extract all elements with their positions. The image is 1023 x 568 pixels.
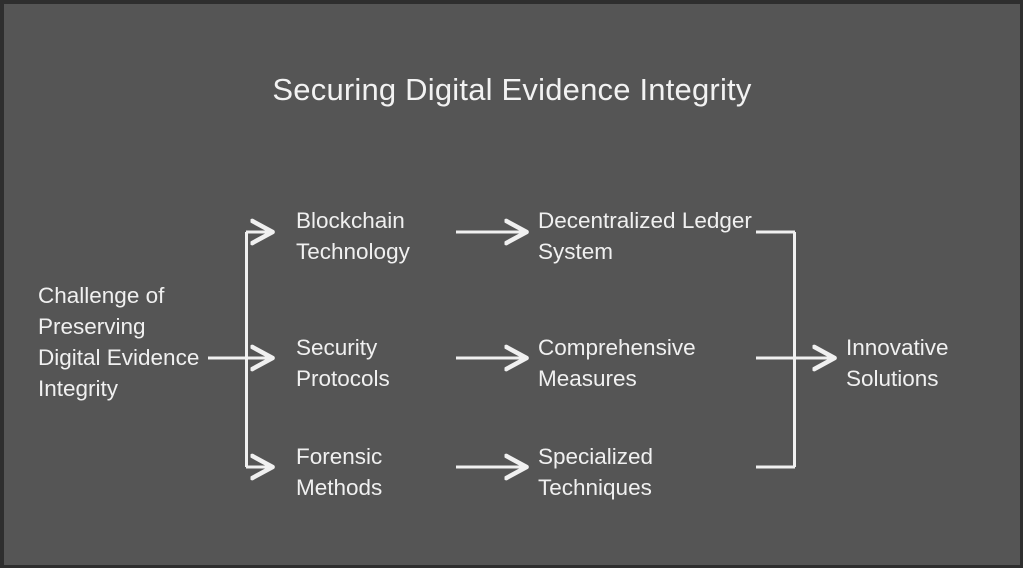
page-title: Securing Digital Evidence Integrity xyxy=(4,72,1020,108)
node-security-protocols: Security Protocols xyxy=(296,332,471,394)
node-decentralized-ledger-system: Decentralized Ledger System xyxy=(538,205,753,267)
node-comprehensive-measures: Comprehensive Measures xyxy=(538,332,753,394)
node-forensic-methods: Forensic Methods xyxy=(296,441,471,503)
node-blockchain-technology: Blockchain Technology xyxy=(296,205,471,267)
node-challenge-root: Challenge of Preserving Digital Evidence… xyxy=(38,280,213,404)
node-specialized-techniques: Specialized Techniques xyxy=(538,441,753,503)
node-innovative-solutions: Innovative Solutions xyxy=(846,332,1020,394)
diagram-board: Securing Digital Evidence Integrity xyxy=(4,4,1020,565)
diagram-canvas: Securing Digital Evidence Integrity xyxy=(0,0,1023,568)
